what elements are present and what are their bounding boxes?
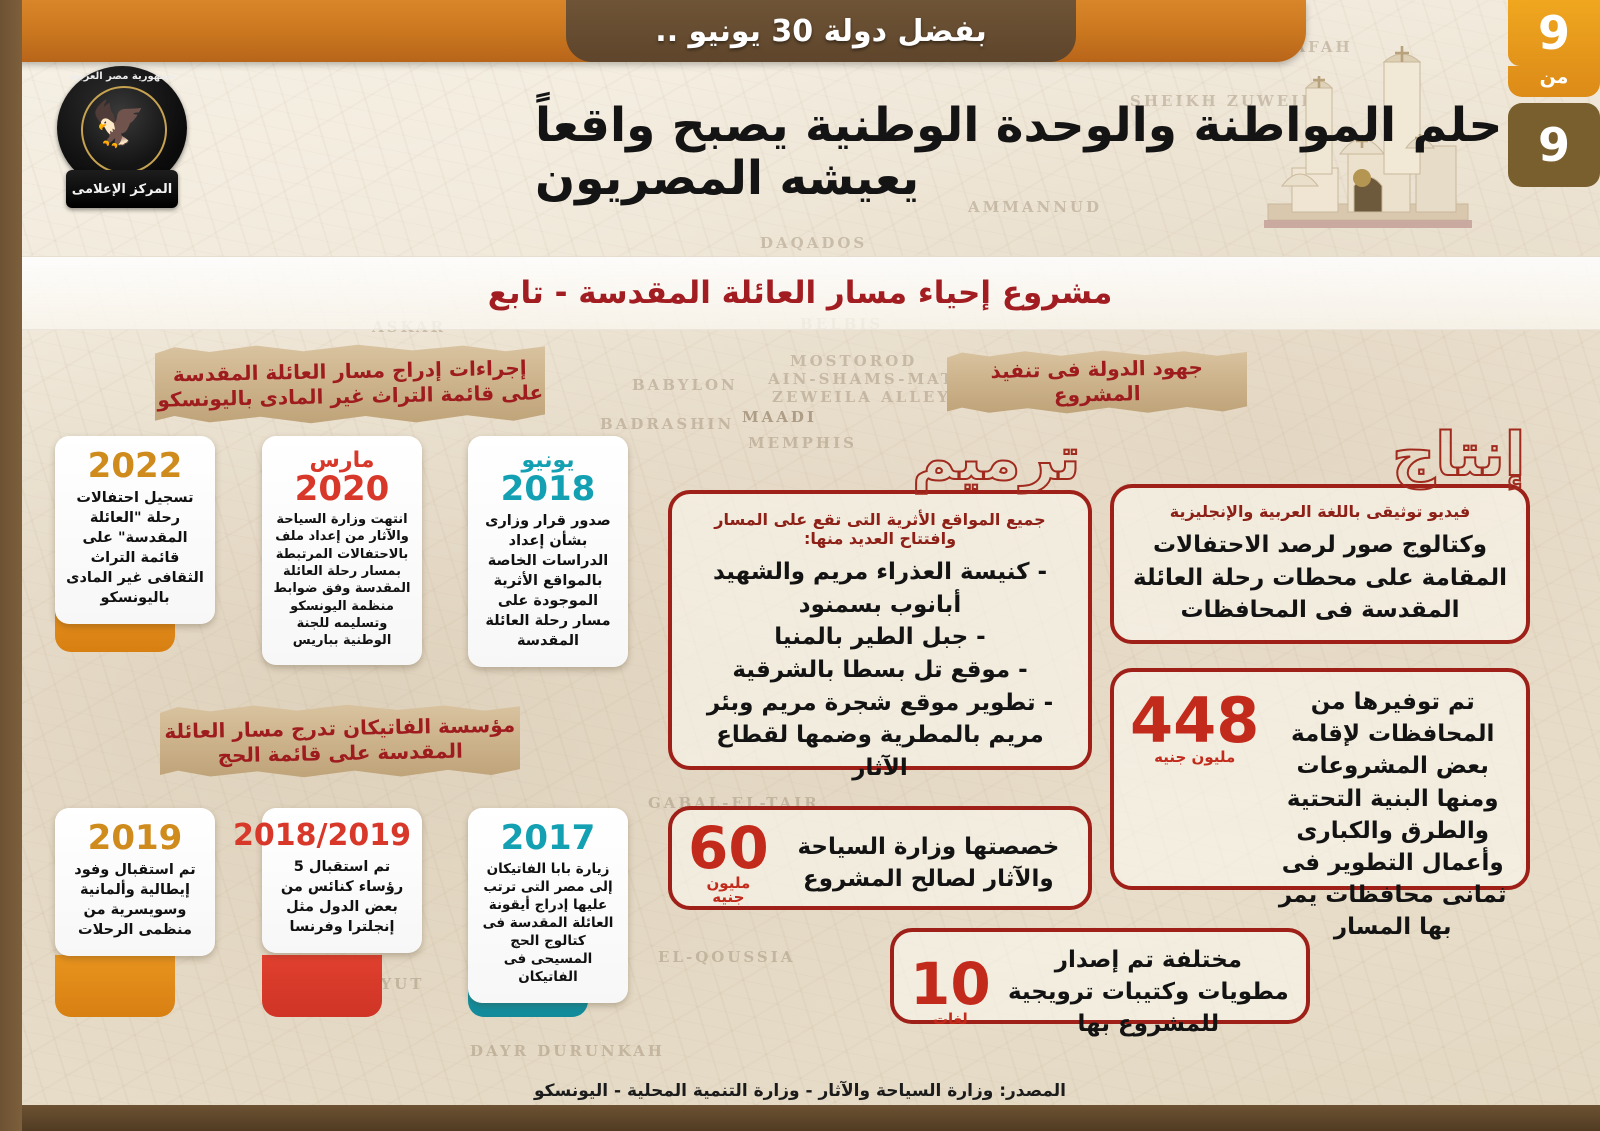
map-label: MOSTOROD [790, 352, 917, 370]
timeline-card-unesco-0: 2022 تسجيل احتفالات رحلة "العائلة المقدس… [55, 436, 215, 624]
map-label: AIN-SHAMS-MAT [768, 370, 955, 388]
production-body: وكتالوج صور لرصد الاحتفالات المقامة على … [1132, 529, 1508, 627]
languages-amount: 10 لغات [910, 958, 991, 1027]
bottom-strip [0, 1105, 1600, 1131]
timeline-body: انتهت وزارة السياحة والآثار من إعداد ملف… [273, 511, 411, 649]
map-label: BABYLON [632, 376, 738, 394]
section-word-production: إنتاج [1392, 420, 1525, 490]
budget-body: خصصتها وزارة السياحة والآثار لصالح المشر… [785, 831, 1072, 895]
map-label: ZEWEILA ALLEY [772, 388, 951, 406]
timeline-card-unesco-2: يونيو 2018 صدور قرار وزارى بشأن إعداد ال… [468, 436, 628, 667]
emblem-ribbon: المركز الإعلامى [66, 170, 178, 208]
map-label: EL-QOUSSIA [658, 948, 795, 966]
timeline-card-vatican-0: 2019 تم استقبال وفود إيطالية وألمانية وس… [55, 808, 215, 956]
production-funding-box: تم توفيرها من المحافظات لإقامة بعض المشر… [1110, 668, 1530, 890]
funding-body: تم توفيرها من المحافظات لإقامة بعض المشر… [1275, 686, 1510, 944]
banner-unesco: إجراءات إدراج مسار العائلة المقدسة على ق… [155, 344, 545, 424]
map-label: DAYR DURUNKAH [470, 1042, 665, 1060]
page-indicator: 9 من 9 [1508, 0, 1600, 187]
banner-vatican-text: مؤسسة الفاتيكان تدرج مسار العائلة المقدس… [160, 713, 521, 770]
timeline-year: 2019 [66, 821, 204, 855]
timeline-year: 2018/2019 [273, 821, 411, 852]
timeline-body: تم استقبال 5 رؤساء كنائس من بعض الدول مث… [273, 857, 411, 937]
section-subtitle: مشروع إحياء مسار العائلة المقدسة - تابع [0, 256, 1600, 330]
section-word-restoration: ترميم [912, 424, 1081, 494]
timeline-year: 2022 [66, 449, 204, 483]
timeline-body: صدور قرار وزارى بشأن إعداد الدراسات الخا… [479, 511, 617, 651]
card-tail-vatican-0 [55, 955, 175, 1017]
timeline-year: 2020 [273, 472, 411, 506]
restoration-lead: جميع المواقع الأثرية التى تقع على المسار… [692, 510, 1068, 548]
page-total-number: 9 [1508, 103, 1600, 187]
restoration-box: جميع المواقع الأثرية التى تقع على المسار… [668, 490, 1092, 770]
banner-unesco-text: إجراءات إدراج مسار العائلة المقدسة على ق… [155, 355, 546, 412]
production-box: فيديو توثيقى باللغة العربية والإنجليزية … [1110, 484, 1530, 644]
eagle-icon: 🦅 [98, 96, 146, 156]
source-footer: المصدر: وزارة السياحة والآثار - وزارة ال… [0, 1081, 1600, 1101]
timeline-card-vatican-1: 2018/2019 تم استقبال 5 رؤساء كنائس من بع… [262, 808, 422, 953]
page-current-number: 9 [1508, 0, 1600, 66]
restoration-item-3: - تطوير موقع شجرة مريم وبئر مريم بالمطري… [692, 687, 1068, 785]
budget-number: 60 [688, 822, 769, 875]
banner-vatican: مؤسسة الفاتيكان تدرج مسار العائلة المقدس… [160, 704, 520, 778]
map-label: MAADI [742, 408, 817, 426]
page-of-label: من [1508, 66, 1600, 97]
infographic-canvas: RAFAHSHEIKH ZUWEIDAMMANNUDDAQADOSBELBISM… [0, 0, 1600, 1131]
restoration-item-2: - موقع تل بسطا بالشرقية [692, 654, 1068, 687]
timeline-body: تم استقبال وفود إيطالية وألمانية وسويسري… [66, 860, 204, 940]
production-lead: فيديو توثيقى باللغة العربية والإنجليزية [1132, 502, 1508, 521]
banner-state-efforts-text: جهود الدولة فى تنفيذ المشروع [947, 354, 1248, 410]
header-kicker-text: بفضل دولة 30 يونيو .. [566, 0, 1076, 62]
map-label: BADRASHIN [600, 415, 734, 433]
timeline-year: 2018 [479, 472, 617, 506]
restoration-budget-box: خصصتها وزارة السياحة والآثار لصالح المشر… [668, 806, 1092, 910]
restoration-item-1: - جبل الطير بالمنيا [692, 621, 1068, 654]
timeline-body: تسجيل احتفالات رحلة "العائلة المقدسة" عل… [66, 488, 204, 608]
budget-amount: 60 مليون جنيه [688, 822, 769, 905]
left-strip [0, 0, 22, 1131]
timeline-card-vatican-2: 2017 زيارة بابا الفاتيكان إلى مصر التى ت… [468, 808, 628, 1003]
funding-number: 448 [1130, 692, 1259, 749]
funding-amount: 448 مليون جنيه [1130, 686, 1259, 765]
languages-box: مختلفة تم إصدار مطويات وكتيبات ترويجية ل… [890, 928, 1310, 1024]
government-emblem: جمهورية مصر العربية رئاسة مجلس الوزراء 🦅… [48, 66, 196, 214]
timeline-body: زيارة بابا الفاتيكان إلى مصر التى ترتب ع… [479, 860, 617, 987]
languages-number: 10 [910, 958, 991, 1011]
emblem-ribbon-text: المركز الإعلامى [72, 182, 172, 197]
card-tail-vatican-1 [262, 955, 382, 1017]
page-title: حلم المواطنة والوحدة الوطنية يصبح واقعاً… [395, 100, 1505, 205]
map-label: MEMPHIS [748, 434, 857, 452]
map-label: DAQADOS [760, 234, 867, 252]
map-label: MAADI [742, 408, 817, 426]
timeline-card-unesco-1: مارس 2020 انتهت وزارة السياحة والآثار من… [262, 436, 422, 665]
timeline-year: 2017 [479, 821, 617, 855]
banner-state-efforts: جهود الدولة فى تنفيذ المشروع [947, 350, 1247, 414]
languages-body: مختلفة تم إصدار مطويات وكتيبات ترويجية ل… [1007, 944, 1290, 1041]
section-subtitle-text: مشروع إحياء مسار العائلة المقدسة - تابع [488, 275, 1113, 311]
restoration-item-0: - كنيسة العذراء مريم والشهيد أبانوب بسمن… [692, 556, 1068, 621]
